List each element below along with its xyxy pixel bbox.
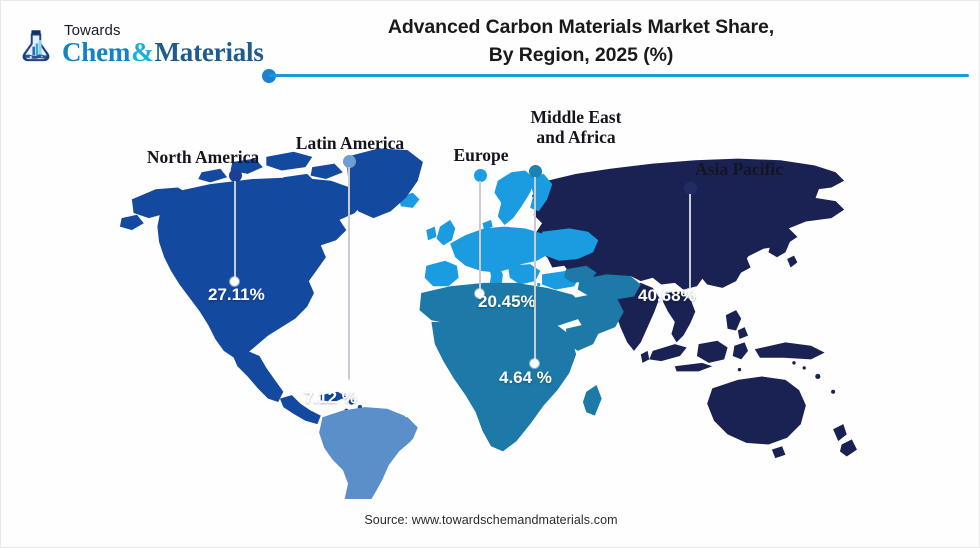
region-label-mea-line-2: and Africa	[536, 127, 615, 147]
leader-endpoint-middle-east-africa	[530, 359, 539, 368]
leader-line-middle-east-africa	[534, 177, 536, 363]
region-label-north-america: North America	[132, 147, 274, 167]
region-label-mea-line-1: Middle East	[531, 107, 622, 127]
brand-main-word: Chem&Materials	[62, 39, 264, 66]
flask-bar-chart-icon	[15, 25, 57, 67]
region-value-middle-east-africa: 4.64 %	[499, 368, 552, 388]
brand-word-chem: Chem	[62, 37, 130, 67]
region-value-europe: 20.45%	[478, 292, 536, 312]
region-label-latin-america: Latin America	[279, 133, 421, 153]
header-rule	[269, 74, 969, 77]
brand-word-materials: Materials	[155, 37, 264, 67]
leader-line-asia-pacific	[689, 194, 691, 293]
region-value-asia-pacific: 40.68%	[638, 286, 696, 306]
leader-line-north-america	[234, 181, 236, 281]
region-label-europe: Europe	[433, 145, 529, 165]
brand-ampersand: &	[130, 37, 154, 67]
region-value-latin-america: 7.12 %	[304, 388, 357, 408]
chart-title: Advanced Carbon Materials Market Share, …	[301, 13, 861, 70]
leader-line-latin-america	[348, 167, 350, 384]
brand-top-word: Towards	[64, 23, 264, 38]
chart-title-line-2: By Region, 2025 (%)	[301, 41, 861, 69]
world-map-chart: North America 27.11% Latin America 7.12 …	[1, 89, 980, 509]
source-caption: Source: www.towardschemandmaterials.com	[1, 513, 980, 527]
region-label-middle-east-africa: Middle East and Africa	[508, 107, 644, 147]
map-region-latin-america[interactable]	[319, 407, 418, 499]
brand-logo[interactable]: Towards Chem&Materials	[15, 23, 264, 67]
region-value-north-america: 27.11%	[208, 285, 265, 305]
leader-line-europe	[479, 181, 481, 293]
infographic-page: Towards Chem&Materials Advanced Carbon M…	[0, 0, 980, 548]
chart-title-line-1: Advanced Carbon Materials Market Share,	[301, 13, 861, 41]
map-region-north-america[interactable]	[120, 148, 423, 424]
region-label-asia-pacific: Asia Pacific	[681, 159, 797, 179]
